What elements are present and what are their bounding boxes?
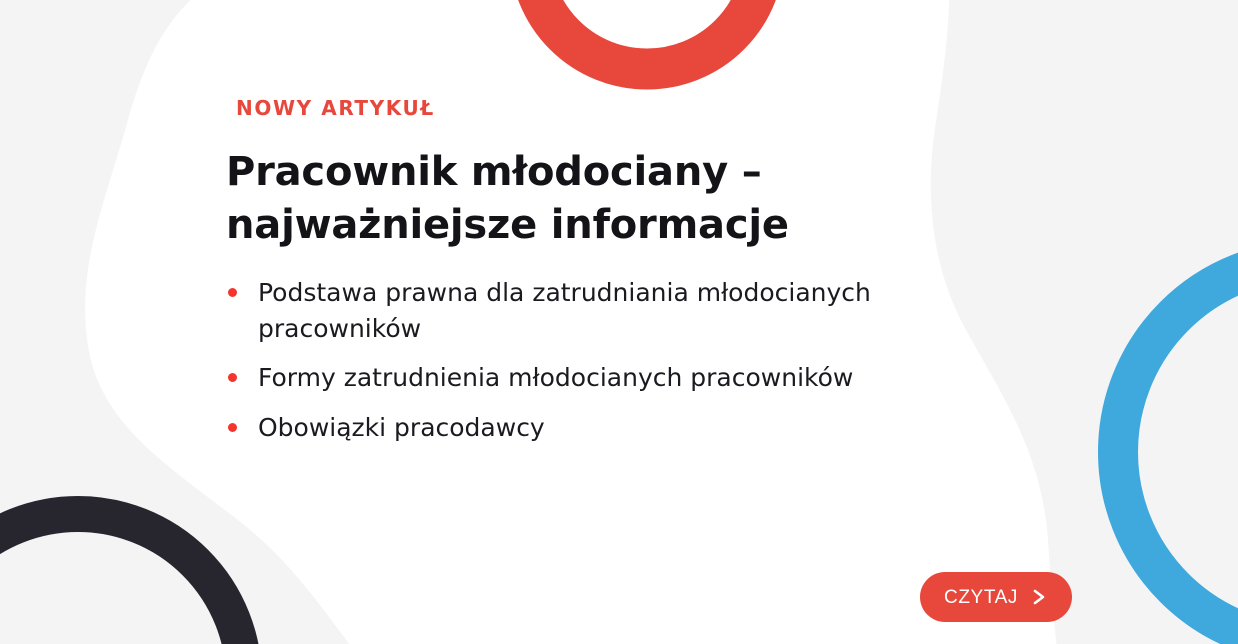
list-item: Formy zatrudnienia młodocianych pracowni… bbox=[224, 360, 984, 396]
list-item-label: Podstawa prawna dla zatrudniania młodoci… bbox=[258, 278, 871, 343]
bullet-dot-icon bbox=[228, 423, 237, 432]
list-item: Obowiązki pracodawcy bbox=[224, 410, 984, 446]
list-item: Podstawa prawna dla zatrudniania młodoci… bbox=[224, 275, 984, 346]
bullet-dot-icon bbox=[228, 373, 237, 382]
banner-content: NOWY ARTYKUŁ Pracownik młodociany – najw… bbox=[0, 0, 1238, 644]
chevron-right-icon bbox=[1030, 588, 1048, 606]
article-promo-banner: NOWY ARTYKUŁ Pracownik młodociany – najw… bbox=[0, 0, 1238, 644]
list-item-label: Formy zatrudnienia młodocianych pracowni… bbox=[258, 363, 853, 392]
bullet-dot-icon bbox=[228, 288, 237, 297]
article-topics-list: Podstawa prawna dla zatrudniania młodoci… bbox=[224, 275, 984, 459]
read-more-button[interactable]: CZYTAJ bbox=[920, 572, 1072, 622]
page-title: Pracownik młodociany – najważniejsze inf… bbox=[226, 146, 1016, 252]
read-more-label: CZYTAJ bbox=[944, 588, 1018, 607]
eyebrow-label: NOWY ARTYKUŁ bbox=[236, 96, 435, 120]
list-item-label: Obowiązki pracodawcy bbox=[258, 413, 545, 442]
